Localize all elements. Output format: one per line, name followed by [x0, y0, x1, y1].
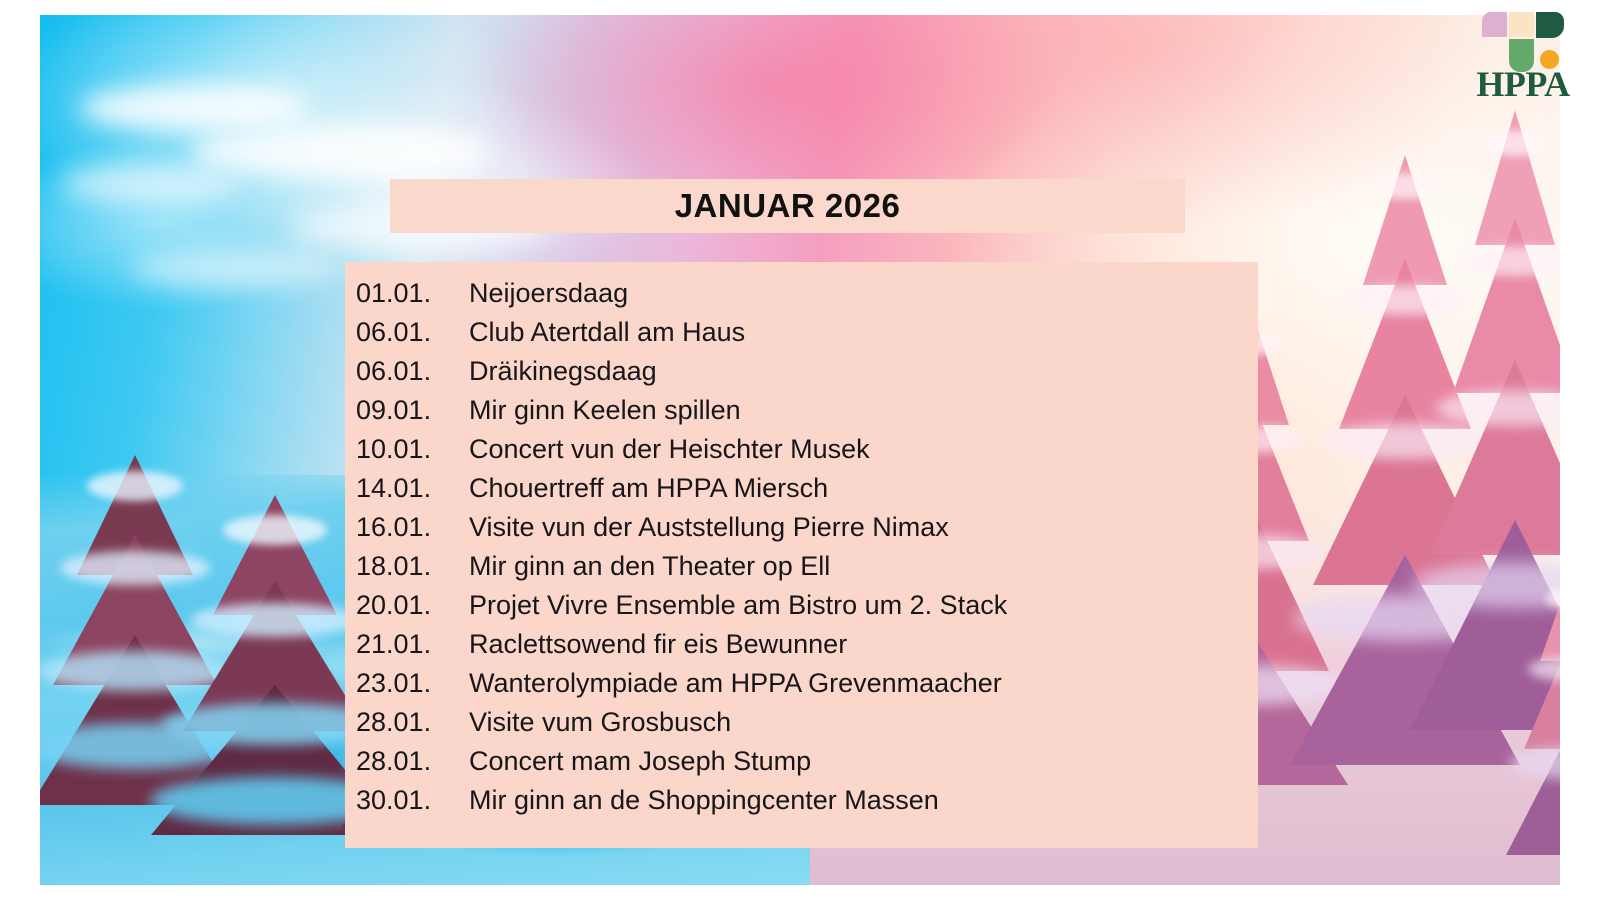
event-name: Raclettsowend fir eis Bewunner [469, 629, 847, 660]
logo-cream-square-icon [1509, 12, 1534, 37]
cloud-shape [80, 85, 310, 131]
hppa-logo: HPPA [1470, 10, 1576, 110]
event-row: 10.01.Concert vun der Heischter Musek [345, 434, 1258, 473]
cloud-shape [190, 125, 490, 179]
event-name: Wanterolympiade am HPPA Grevenmaacher [469, 668, 1002, 699]
fir-tree [1500, 575, 1560, 855]
logo-mauve-square-icon [1482, 12, 1507, 37]
event-row: 09.01.Mir ginn Keelen spillen [345, 395, 1258, 434]
event-date: 06.01. [356, 317, 469, 348]
events-panel: 01.01.Neijoersdaag06.01.Club Atertdall a… [345, 262, 1258, 848]
event-date: 06.01. [356, 356, 469, 387]
event-row: 18.01.Mir ginn an den Theater op Ell [345, 551, 1258, 590]
event-name: Mir ginn Keelen spillen [469, 395, 741, 426]
event-row: 16.01.Visite vun der Auststellung Pierre… [345, 512, 1258, 551]
event-row: 20.01.Projet Vivre Ensemble am Bistro um… [345, 590, 1258, 629]
event-row: 01.01.Neijoersdaag [345, 278, 1258, 317]
logo-dark-green-block-icon [1536, 12, 1564, 38]
event-name: Concert mam Joseph Stump [469, 746, 811, 777]
event-date: 23.01. [356, 668, 469, 699]
event-name: Chouertreff am HPPA Miersch [469, 473, 828, 504]
event-row: 06.01.Dräikinegsdaag [345, 356, 1258, 395]
event-row: 28.01.Visite vum Grosbusch [345, 707, 1258, 746]
event-date: 20.01. [356, 590, 469, 621]
event-row: 21.01.Raclettsowend fir eis Bewunner [345, 629, 1258, 668]
event-row: 28.01.Concert mam Joseph Stump [345, 746, 1258, 785]
event-row: 30.01.Mir ginn an de Shoppingcenter Mass… [345, 785, 1258, 824]
event-name: Club Atertdall am Haus [469, 317, 745, 348]
slide: HPPA JANUAR 2026 01.01.Neijoersdaag06.01… [0, 0, 1600, 900]
event-date: 18.01. [356, 551, 469, 582]
cloud-shape [60, 165, 240, 205]
events-list: 01.01.Neijoersdaag06.01.Club Atertdall a… [345, 278, 1258, 824]
event-date: 01.01. [356, 278, 469, 309]
event-row: 23.01.Wanterolympiade am HPPA Grevenmaac… [345, 668, 1258, 707]
event-name: Visite vum Grosbusch [469, 707, 731, 738]
event-name: Concert vun der Heischter Musek [469, 434, 870, 465]
event-date: 14.01. [356, 473, 469, 504]
event-date: 10.01. [356, 434, 469, 465]
month-title-banner: JANUAR 2026 [390, 179, 1185, 233]
event-row: 06.01.Club Atertdall am Haus [345, 317, 1258, 356]
event-name: Mir ginn an de Shoppingcenter Massen [469, 785, 939, 816]
event-name: Dräikinegsdaag [469, 356, 657, 387]
event-name: Mir ginn an den Theater op Ell [469, 551, 830, 582]
event-date: 21.01. [356, 629, 469, 660]
event-name: Projet Vivre Ensemble am Bistro um 2. St… [469, 590, 1007, 621]
event-date: 28.01. [356, 746, 469, 777]
event-name: Visite vun der Auststellung Pierre Nimax [469, 512, 949, 543]
event-name: Neijoersdaag [469, 278, 628, 309]
cloud-shape [130, 250, 340, 288]
event-date: 16.01. [356, 512, 469, 543]
event-date: 09.01. [356, 395, 469, 426]
hppa-logo-mark [1470, 10, 1576, 72]
event-date: 30.01. [356, 785, 469, 816]
event-date: 28.01. [356, 707, 469, 738]
page-title: JANUAR 2026 [675, 187, 901, 225]
hppa-logo-wordmark: HPPA [1470, 66, 1576, 102]
event-row: 14.01.Chouertreff am HPPA Miersch [345, 473, 1258, 512]
